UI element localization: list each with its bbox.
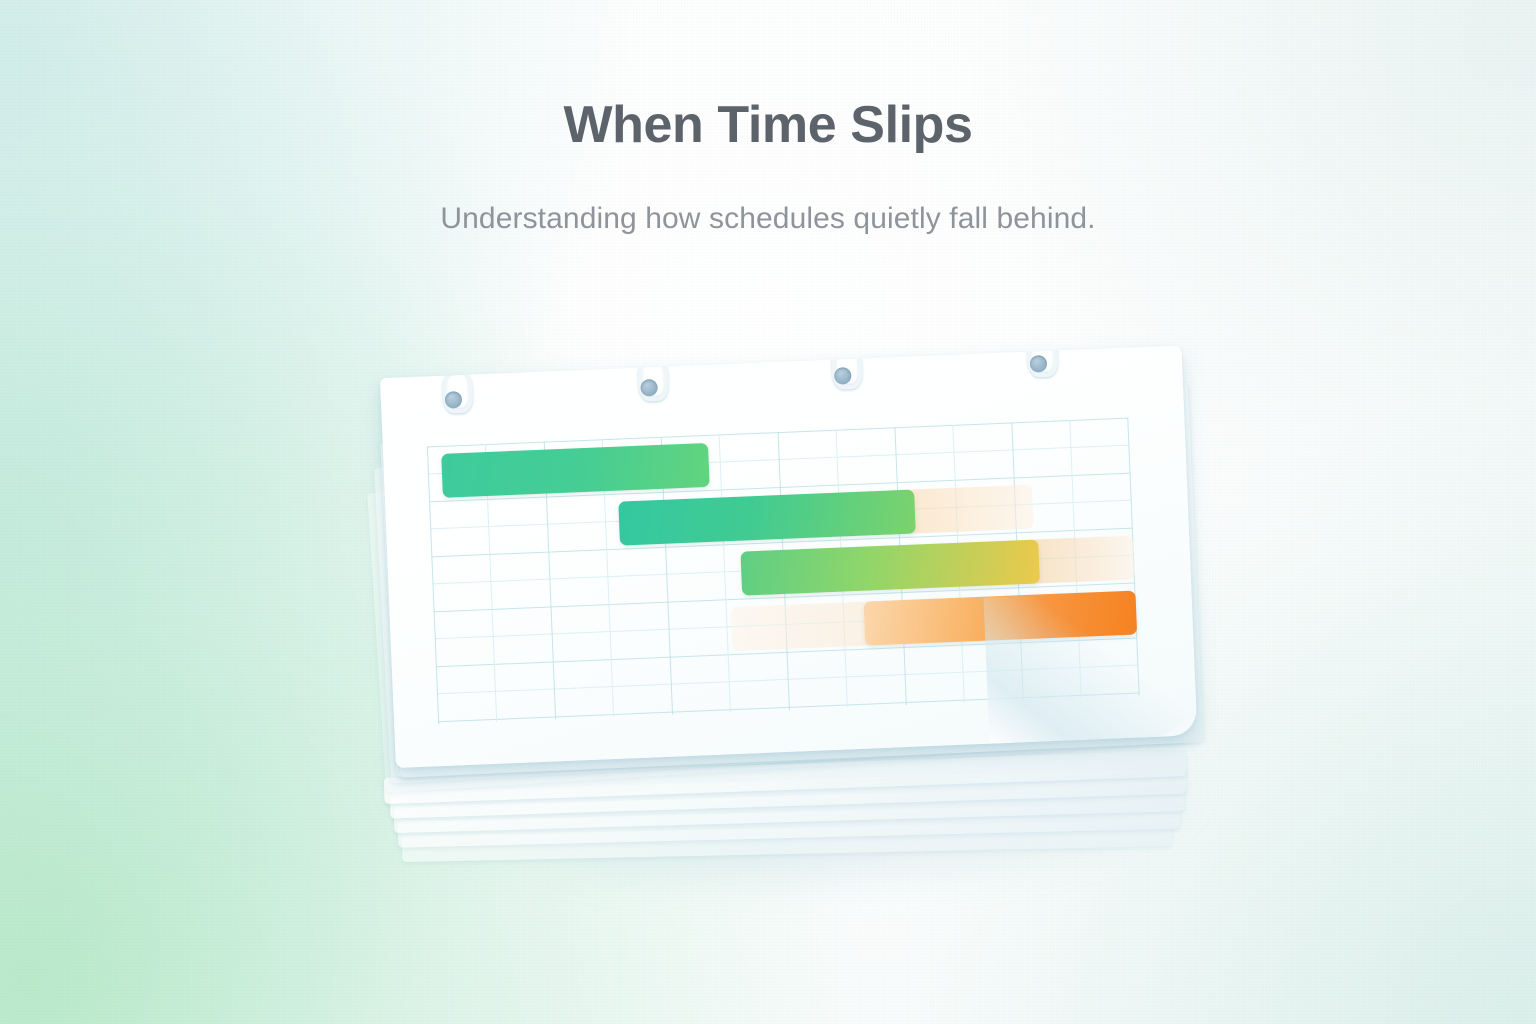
calendar-illustration: Task 1 Task 2 Task 3 Task 4: [318, 360, 1238, 900]
binding-ring-icon: [1027, 345, 1051, 381]
gantt-bar: Task 3: [740, 539, 1040, 595]
gantt-slip-overlay: [904, 485, 1034, 534]
calendar-top-page: Task 1 Task 2 Task 3 Task 4: [380, 345, 1197, 768]
binding-ring-icon: [637, 359, 661, 406]
poster-canvas: When Time Slips Understanding how schedu…: [0, 0, 1536, 1024]
gantt-bars: Task 1 Task 2 Task 3 Task 4: [427, 418, 1140, 725]
binding-ring-icon: [442, 371, 466, 418]
gantt-bar-label: Task 1: [441, 454, 442, 455]
header: When Time Slips Understanding how schedu…: [0, 0, 1536, 236]
gantt-slip-overlay: [1029, 536, 1135, 584]
gantt-bar: Task 1: [441, 443, 710, 498]
gantt-bar-label: Task 3: [740, 552, 741, 553]
gantt-bar-label: Task 2: [618, 502, 619, 503]
gantt-bar: Task 4: [864, 591, 1138, 646]
page-subtitle: Understanding how schedules quietly fall…: [0, 153, 1536, 236]
page-title: When Time Slips: [0, 98, 1536, 153]
gantt-bar: Task 2: [618, 490, 916, 546]
calendar-grid: Task 1 Task 2 Task 3 Task 4: [427, 418, 1140, 725]
